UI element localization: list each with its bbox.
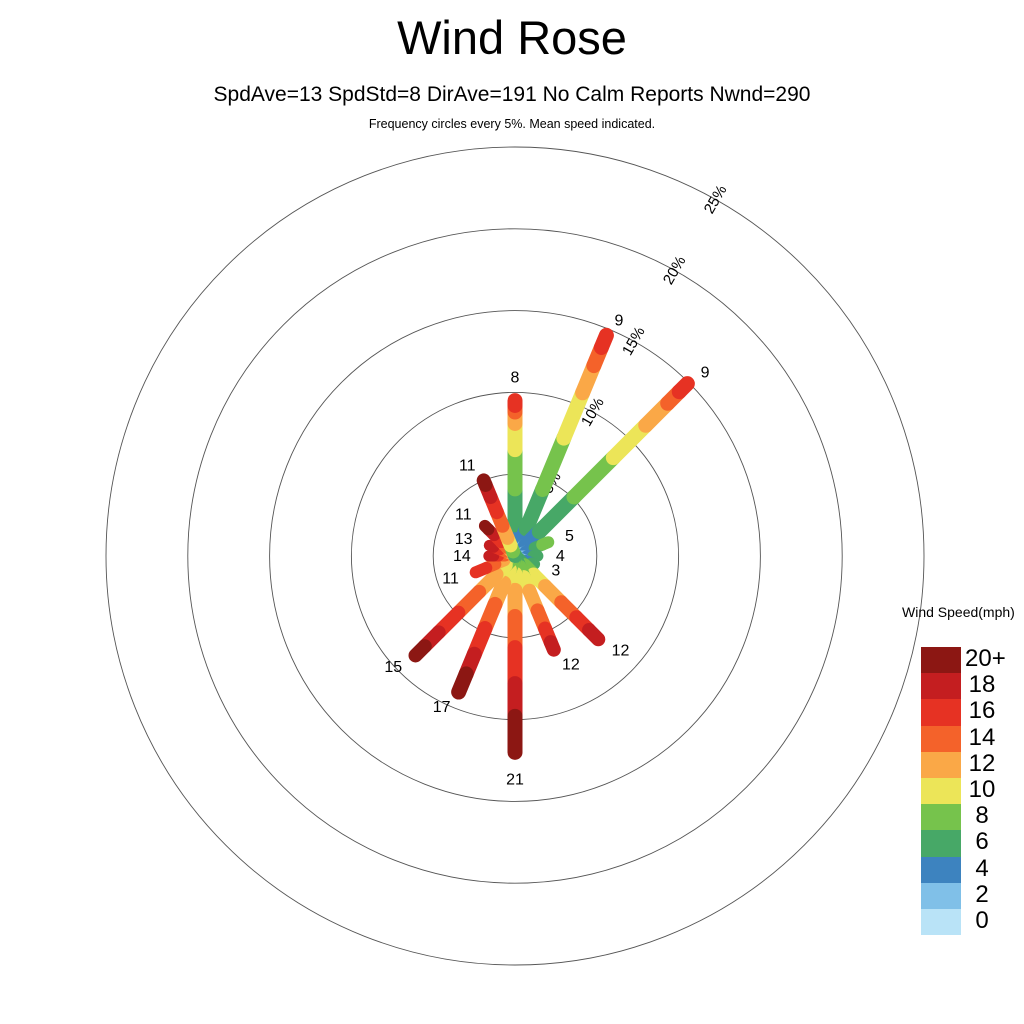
petal-segment bbox=[476, 568, 487, 572]
petal-mean-speed-label: 17 bbox=[433, 699, 451, 716]
petal-mean-speed-label: 11 bbox=[455, 507, 472, 524]
legend-label: 6 bbox=[965, 829, 999, 855]
petal-mean-speed-label: 21 bbox=[506, 771, 524, 788]
petal-segment bbox=[551, 642, 554, 650]
legend-title: Wind Speed(mph) bbox=[902, 604, 1015, 620]
legend-label: 0 bbox=[965, 908, 999, 934]
petal-mean-speed-label: 3 bbox=[551, 562, 560, 579]
legend-row: 8 bbox=[921, 804, 961, 830]
legend-label: 14 bbox=[965, 725, 999, 751]
legend-row: 2 bbox=[921, 883, 961, 909]
petal-segment bbox=[542, 542, 548, 545]
petal-mean-speed-label: 12 bbox=[612, 643, 630, 660]
petal-mean-speed-label: 14 bbox=[453, 548, 471, 565]
legend-color-chip bbox=[921, 804, 961, 830]
legend-row: 18 bbox=[921, 673, 961, 699]
legend-color-chip bbox=[921, 699, 961, 725]
legend-label: 10 bbox=[965, 777, 999, 803]
legend-row: 0 bbox=[921, 909, 961, 935]
legend-row: 16 bbox=[921, 699, 961, 725]
wind-rose-plot: 5%10%15%20%25%89954312122117151114131111 bbox=[0, 0, 1024, 1024]
legend-label: 12 bbox=[965, 751, 999, 777]
legend-color-chip bbox=[921, 909, 961, 935]
legend-label: 18 bbox=[965, 672, 999, 698]
wind-rose-figure: Wind Rose SpdAve=13 SpdStd=8 DirAve=191 … bbox=[0, 0, 1024, 1024]
legend-label: 2 bbox=[965, 882, 999, 908]
petal-mean-speed-label: 5 bbox=[565, 528, 574, 545]
legend-color-chip bbox=[921, 883, 961, 909]
petal-segment bbox=[416, 646, 425, 655]
legend-label: 16 bbox=[965, 698, 999, 724]
petal-mean-speed-label: 8 bbox=[511, 370, 520, 387]
petal-mean-speed-label: 11 bbox=[459, 458, 476, 475]
legend-color-chip bbox=[921, 752, 961, 778]
petal-mean-speed-label: 11 bbox=[442, 570, 459, 587]
legend-row: 6 bbox=[921, 830, 961, 856]
legend-color-chip bbox=[921, 647, 961, 673]
legend-color-chip bbox=[921, 778, 961, 804]
petal-segment bbox=[574, 458, 613, 497]
legend-row: 10 bbox=[921, 778, 961, 804]
petal-segment bbox=[601, 335, 606, 347]
legend-row: 12 bbox=[921, 752, 961, 778]
ring-label: 20% bbox=[660, 253, 690, 288]
legend-color-chip bbox=[921, 830, 961, 856]
petal-segment bbox=[484, 480, 486, 485]
petal-mean-speed-label: 15 bbox=[384, 659, 402, 676]
petal-mean-speed-label: 9 bbox=[701, 364, 710, 381]
legend-label: 8 bbox=[965, 803, 999, 829]
legend-label: 4 bbox=[965, 856, 999, 882]
petal-mean-speed-label: 13 bbox=[455, 531, 473, 548]
petal-segment bbox=[589, 630, 598, 639]
ring-label: 25% bbox=[701, 182, 731, 217]
legend-color-chip bbox=[921, 726, 961, 752]
petal-mean-speed-label: 12 bbox=[562, 656, 580, 673]
legend-color-chip bbox=[921, 673, 961, 699]
legend-label: 20+ bbox=[965, 646, 1023, 672]
ring-label-group: 20% bbox=[660, 253, 690, 288]
petal-segment bbox=[489, 545, 494, 547]
petal-mean-speed-label: 9 bbox=[615, 313, 624, 330]
legend-swatches: 20+181614121086420 bbox=[921, 647, 961, 935]
petal-segment bbox=[485, 526, 488, 529]
ring-label-group: 25% bbox=[701, 182, 731, 217]
legend-color-chip bbox=[921, 857, 961, 883]
legend-row: 20+ bbox=[921, 647, 961, 673]
petal-segment bbox=[459, 674, 467, 692]
wind-petal bbox=[515, 335, 606, 556]
petal-segment bbox=[679, 384, 687, 392]
legend-row: 14 bbox=[921, 726, 961, 752]
legend-row: 4 bbox=[921, 857, 961, 883]
